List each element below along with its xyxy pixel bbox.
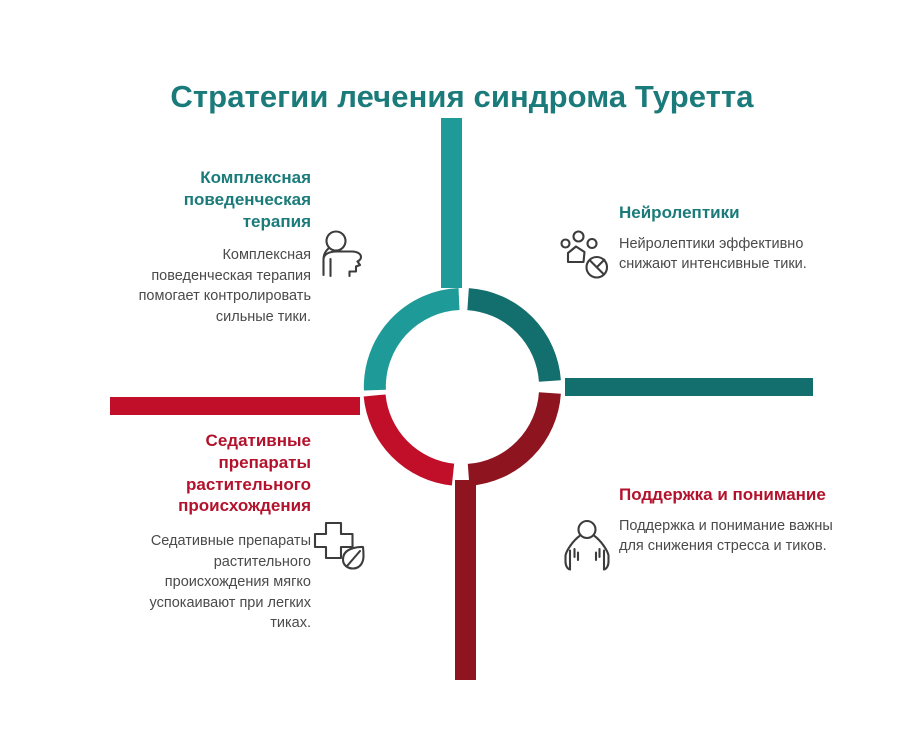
arc-bottom-left — [375, 396, 453, 475]
quadrant-behavioral: Комплексная поведенческая терапия Компле… — [126, 167, 311, 328]
connector-left-stem — [110, 397, 360, 415]
connector-top-stem — [441, 118, 462, 288]
head-profile-thought-icon — [311, 226, 373, 288]
infographic-canvas: Стратегии лечения синдрома Туретта Компл… — [0, 0, 924, 732]
quadrant-neuroleptics-body: Нейролептики эффективно снижают интенсив… — [619, 234, 834, 275]
page-title: Стратегии лечения синдрома Туретта — [0, 79, 924, 115]
quadrant-behavioral-body: Комплексная поведенческая терапия помога… — [126, 245, 311, 327]
quadrant-sedatives: Седативные препараты растительного проис… — [110, 430, 311, 634]
connector-right-stem — [565, 378, 813, 396]
quadrant-neuroleptics: Нейролептики Нейролептики эффективно сни… — [619, 202, 834, 275]
arc-top-right — [468, 299, 550, 381]
person-raised-hands-icon — [556, 516, 618, 578]
quadrant-neuroleptics-heading: Нейролептики — [619, 202, 834, 224]
quadrant-support: Поддержка и понимание Поддержка и понима… — [619, 484, 844, 557]
quadrant-sedatives-heading: Седативные препараты растительного проис… — [110, 430, 311, 517]
quadrant-support-body: Поддержка и понимание важны для снижения… — [619, 516, 844, 557]
quadrant-behavioral-heading: Комплексная поведенческая терапия — [126, 167, 311, 232]
quadrant-support-heading: Поддержка и понимание — [619, 484, 844, 506]
connector-bottom-stem — [455, 480, 476, 680]
medical-cross-leaf-icon — [310, 514, 372, 576]
pills-capsule-icon — [556, 226, 618, 288]
arc-bottom-right — [469, 393, 550, 475]
quadrant-sedatives-body: Седативные препараты растительного проис… — [110, 531, 311, 634]
arc-top-left — [375, 299, 459, 390]
